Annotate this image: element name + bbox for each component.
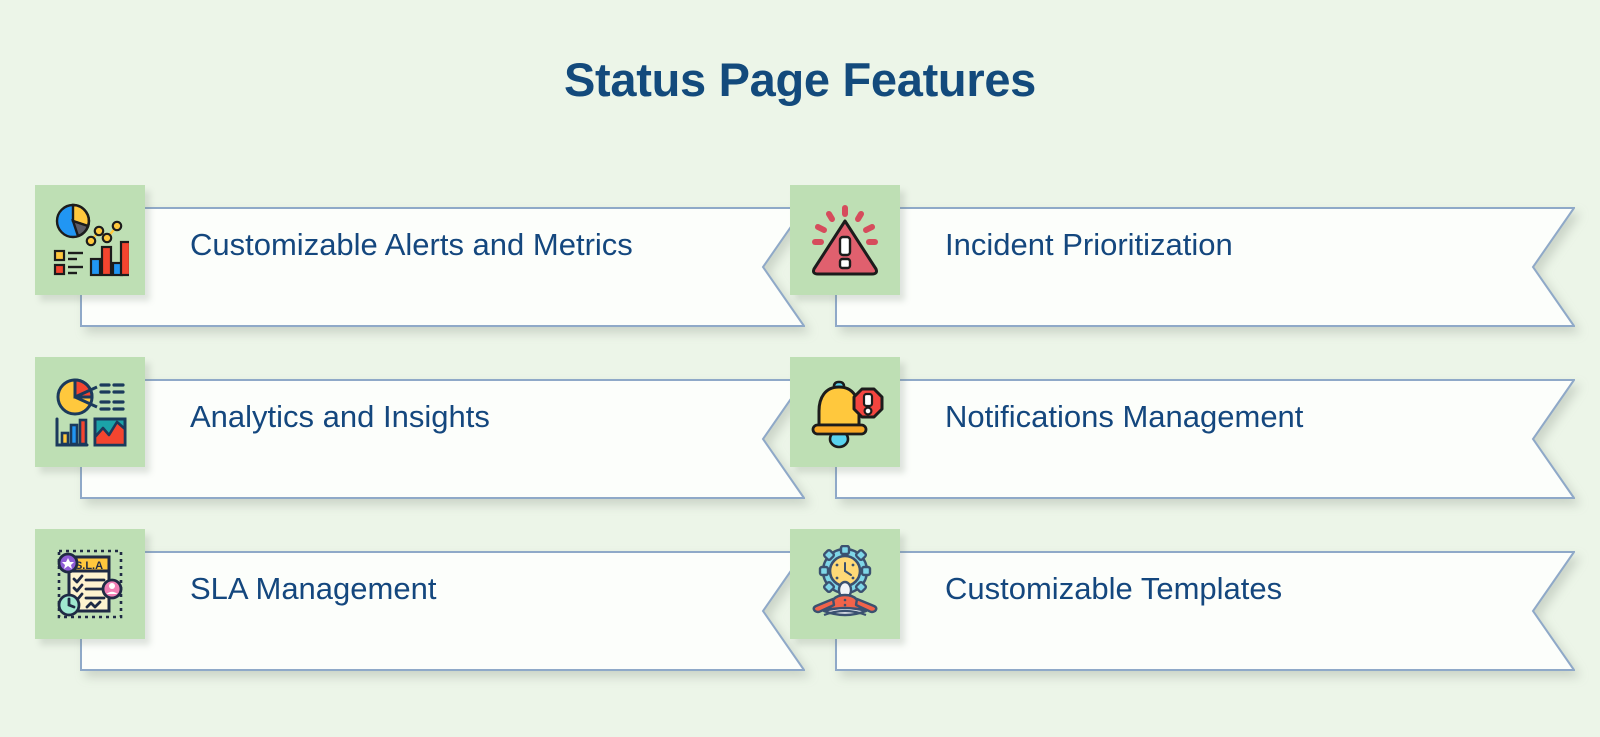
card-shape [80,551,805,671]
feature-label: Customizable Alerts and Metrics [190,185,633,305]
warning-triangle-alert-icon [790,185,900,295]
feature-label: Incident Prioritization [945,185,1233,305]
feature-row: Customizable Alerts and Metrics [0,185,1600,357]
analytics-report-chart-icon [35,357,145,467]
feature-row: Analytics and Insights [0,357,1600,529]
svg-text:S.L.A: S.L.A [75,560,103,572]
feature-row: SLA Management S.L.A [0,529,1600,701]
meditating-person-gear-icon [790,529,900,639]
sla-document-checklist-icon: S.L.A [35,529,145,639]
feature-label: Analytics and Insights [190,357,490,477]
features-grid: Customizable Alerts and Metrics [0,185,1600,701]
feature-label: Customizable Templates [945,529,1282,649]
feature-label: SLA Management [190,529,436,649]
feature-label: Notifications Management [945,357,1303,477]
pie-bar-chart-metrics-icon [35,185,145,295]
card-surface [80,551,805,671]
page-title: Status Page Features [0,52,1600,107]
bell-alert-notification-icon [790,357,900,467]
